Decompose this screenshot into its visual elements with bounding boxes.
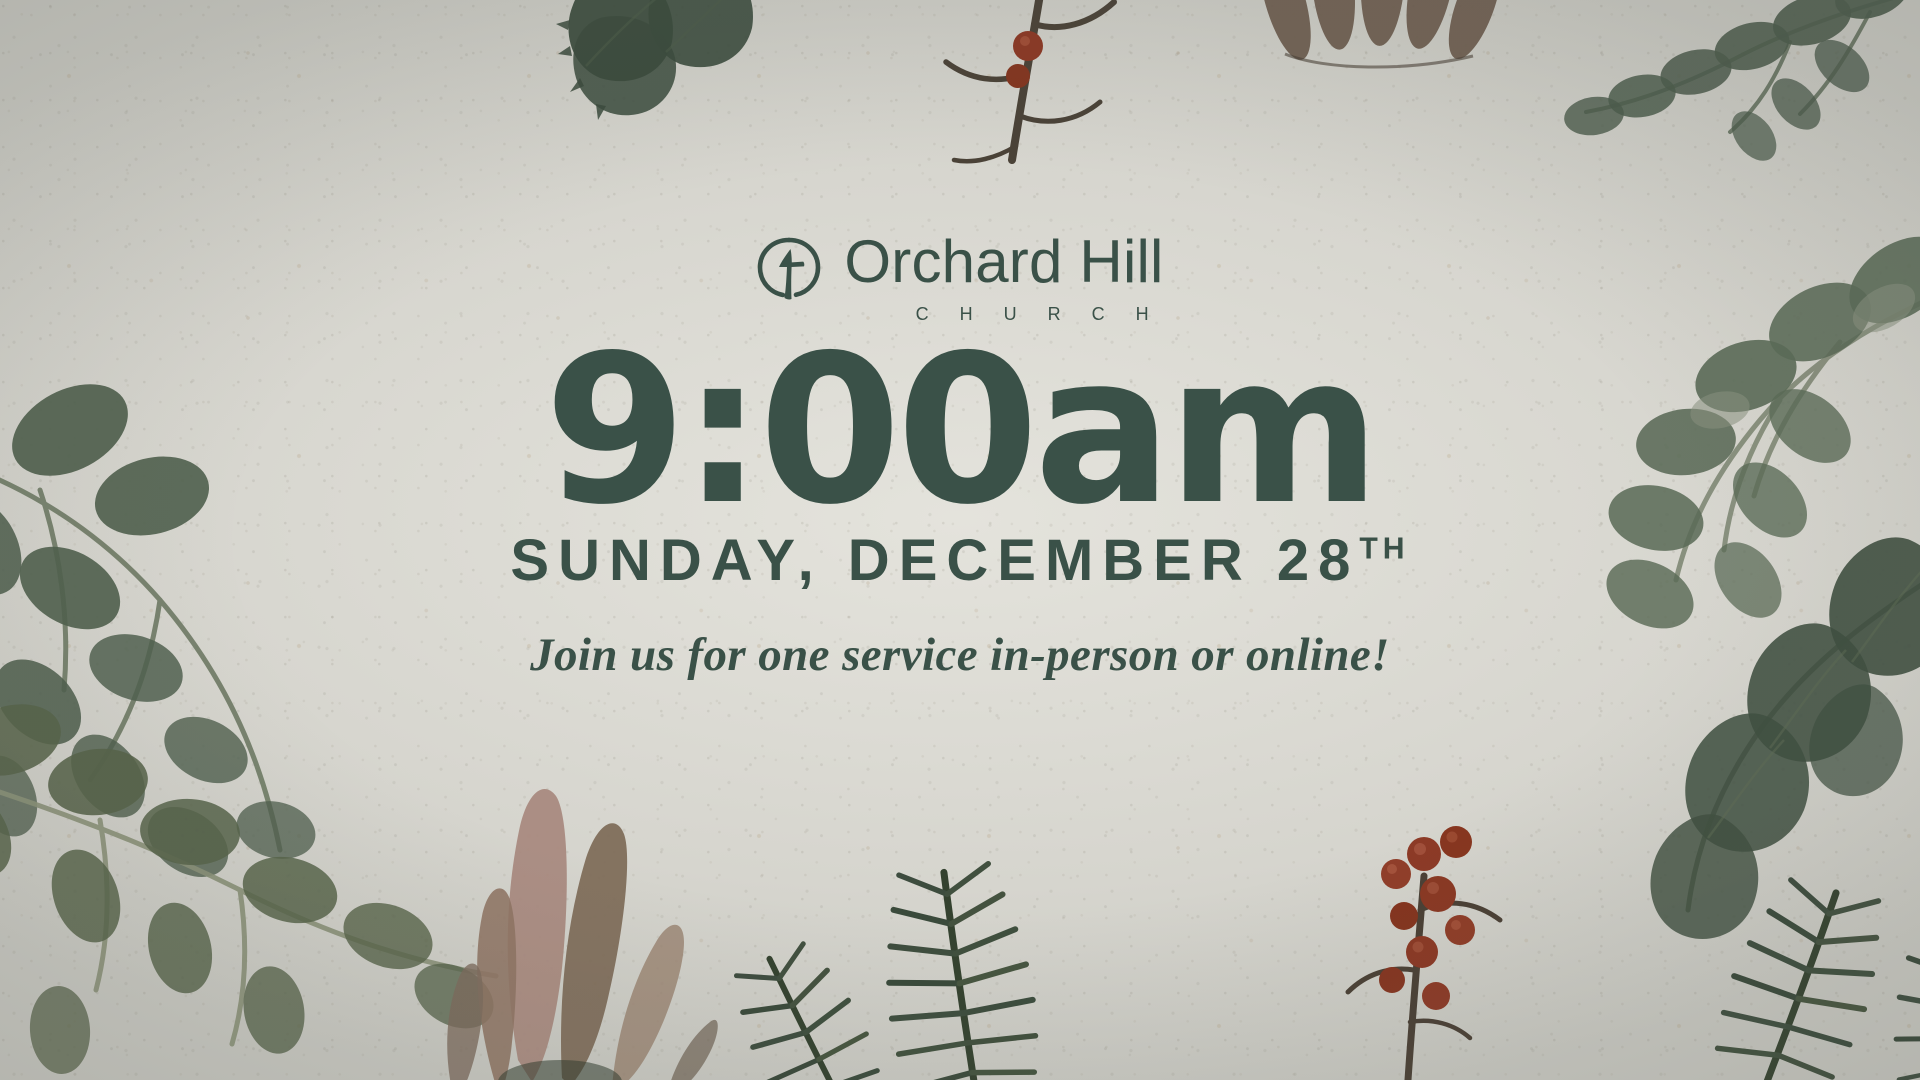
orchard-hill-circle-cross-icon [756,236,822,306]
announcement-content: Orchard Hill C H U R C H 9:00am SUNDAY, … [0,232,1920,679]
announcement-graphic: Orchard Hill C H U R C H 9:00am SUNDAY, … [0,0,1920,1080]
service-date-text: SUNDAY, DECEMBER 28 [510,528,1359,593]
logo-name: Orchard Hill [844,232,1163,292]
orchard-hill-wordmark: Orchard Hill C H U R C H [844,232,1163,323]
service-date-ordinal: TH [1359,532,1409,565]
service-date: SUNDAY, DECEMBER 28TH [0,532,1920,590]
orchard-hill-logo: Orchard Hill C H U R C H [0,232,1920,323]
service-tagline: Join us for one service in-person or onl… [0,632,1920,679]
service-time: 9:00am [0,327,1920,536]
